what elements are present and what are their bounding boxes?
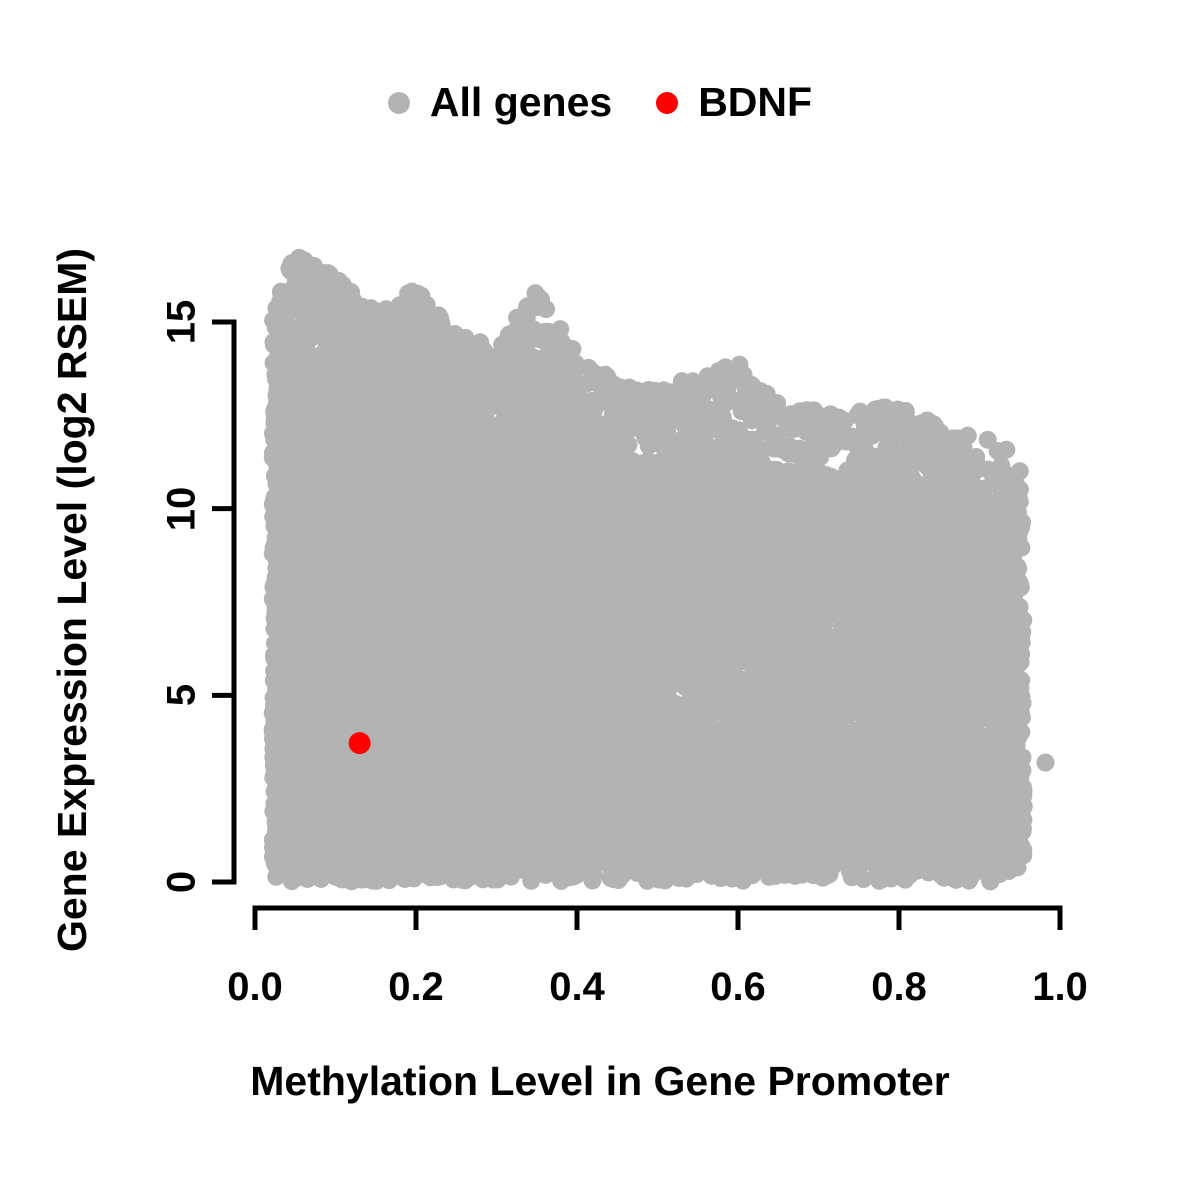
plot-canvas bbox=[0, 0, 1200, 1200]
scatter-plot-figure: All genes BDNF Methylation Level in Gene… bbox=[0, 0, 1200, 1200]
data-points-layer bbox=[264, 249, 1055, 891]
